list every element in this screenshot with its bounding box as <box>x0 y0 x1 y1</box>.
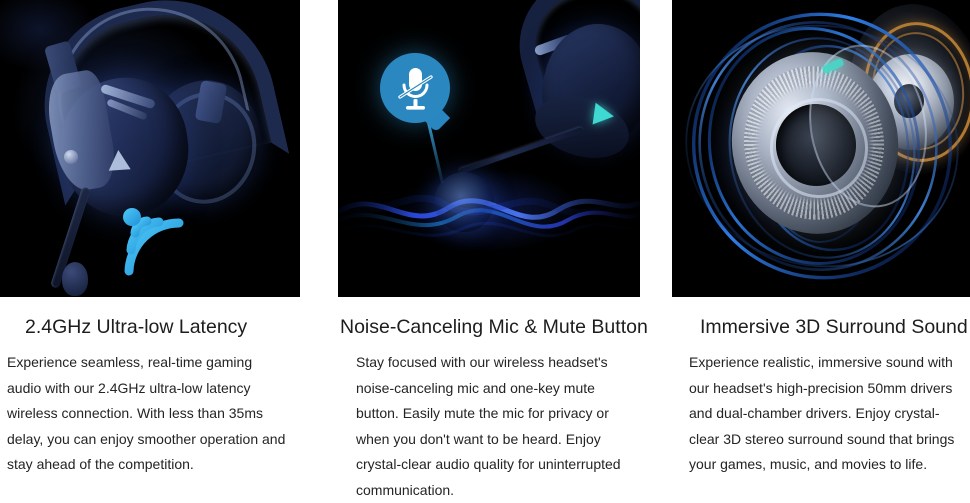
feature-card-latency: 2.4GHz Ultra-low Latency Experience seam… <box>0 0 300 492</box>
wifi-signal-icon <box>115 207 197 277</box>
feature-image-mic-mute <box>338 0 640 297</box>
headset-mic-hinge-knob <box>64 150 78 164</box>
mic-muted-icon <box>393 64 438 112</box>
feature-body-surround: Experience realistic, immersive sound wi… <box>672 339 970 478</box>
headset-boom-mic-capsule <box>62 262 88 296</box>
feature-image-surround <box>672 0 970 297</box>
feature-grid: 2.4GHz Ultra-low Latency Experience seam… <box>0 0 970 492</box>
feature-image-latency <box>0 0 300 297</box>
feature-body-latency: Experience seamless, real-time gaming au… <box>0 339 300 478</box>
feature-card-mic-mute: Noise-Canceling Mic & Mute Button Stay f… <box>338 0 640 492</box>
headset-triangle-accent <box>593 103 616 128</box>
feature-heading-surround: Immersive 3D Surround Sound <box>672 297 970 339</box>
feature-card-surround: Immersive 3D Surround Sound Experience r… <box>672 0 970 492</box>
feature-body-mic-mute: Stay focused with our wireless headset's… <box>338 339 640 503</box>
feature-heading-latency: 2.4GHz Ultra-low Latency <box>0 297 300 339</box>
headset-triangle-accent <box>107 149 130 170</box>
feature-heading-mic-mute: Noise-Canceling Mic & Mute Button <box>338 297 640 339</box>
